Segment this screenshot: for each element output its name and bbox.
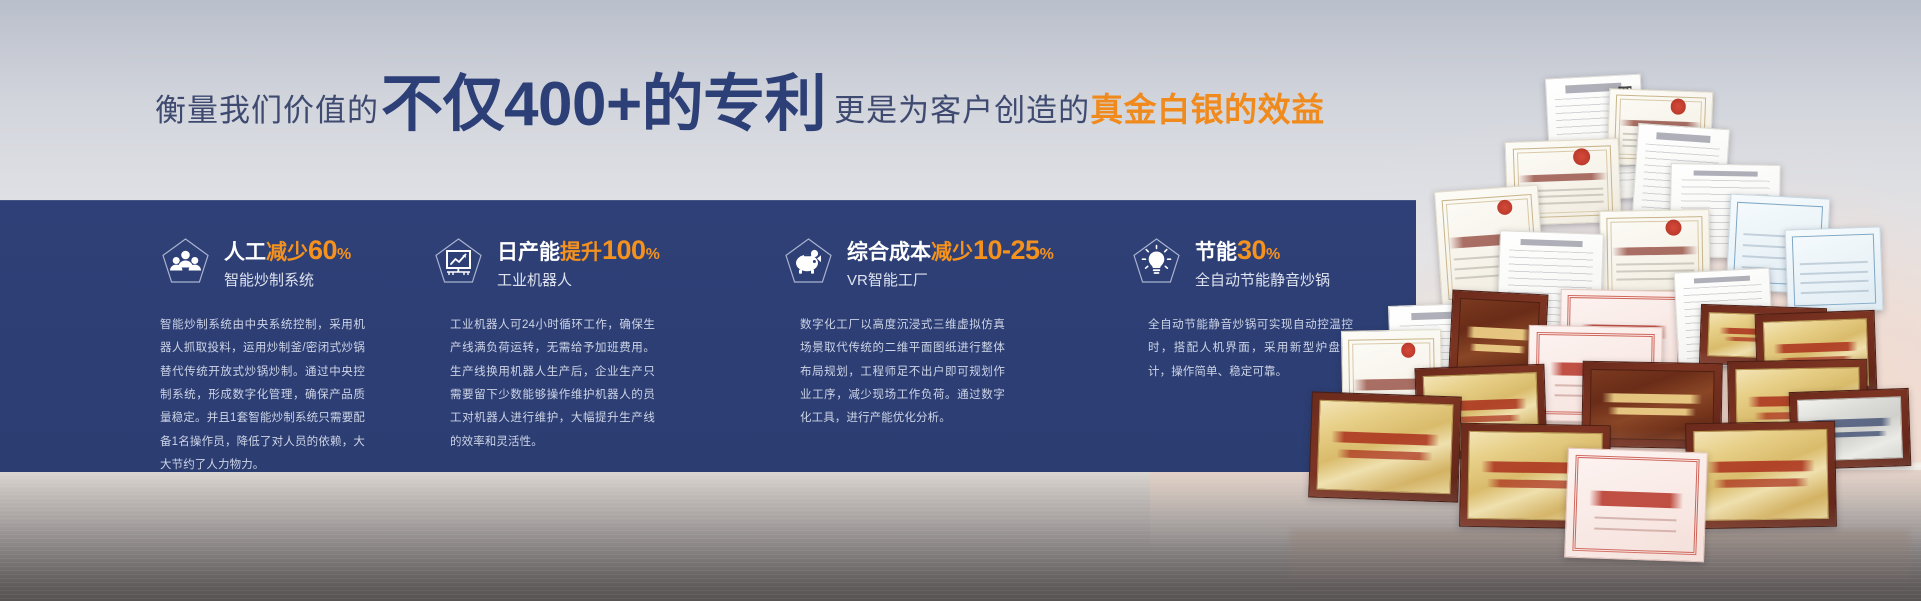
feature-header: 日产能提升100% 工业机器人 [433, 234, 737, 290]
feature-title-unit: % [646, 246, 660, 263]
feature-title-prefix: 综合成本 [847, 241, 931, 264]
light-bulb-icon [1131, 236, 1182, 287]
feature-title-unit: % [1040, 246, 1054, 263]
certificate-item [1685, 421, 1837, 530]
feature-body: 数字化工厂以高度沉浸式三维虚拟仿真场景取代传统的二维平面图纸进行整体布局规划，工… [800, 314, 1005, 431]
feature-body: 工业机器人可24小时循环工作，确保生产线满负荷运转，无需给予加班费用。生产线换用… [450, 314, 655, 454]
feature-title-highlight: 减少 [931, 241, 973, 264]
feature-item-total-cost[interactable]: 综合成本减少10-25% VR智能工厂 数字化工厂以高度沉浸式三维虚拟仿真场景取… [737, 200, 1087, 472]
feature-title: 综合成本减少10-25% [847, 235, 1054, 266]
feature-subtitle: VR智能工厂 [847, 272, 1054, 290]
certificate-item [1785, 226, 1884, 313]
feature-panel: 人工减少60% 智能炒制系统 智能炒制系统由中央系统控制，采用机器人抓取投料，运… [0, 200, 1416, 472]
feature-title-highlight: 提升 [560, 241, 602, 264]
feature-title-prefix: 日产能 [497, 241, 560, 264]
feature-body: 智能炒制系统由中央系统控制，采用机器人抓取投料，运用炒制釜/密闭式炒锅替代传统开… [160, 314, 365, 477]
feature-subtitle: 智能炒制系统 [224, 272, 351, 290]
certificate-item [1308, 391, 1462, 502]
certificate-item [1564, 448, 1708, 563]
feature-title-number: 10-25 [973, 235, 1040, 265]
headline: 衡量我们价值的 不仅400+的专利 更是为客户创造的 真金白银的效益 [155, 74, 1325, 144]
people-group-icon [160, 236, 211, 287]
feature-item-labor-reduction[interactable]: 人工减少60% 智能炒制系统 智能炒制系统由中央系统控制，采用机器人抓取投料，运… [0, 200, 385, 472]
piggy-bank-icon [783, 236, 834, 287]
feature-item-daily-capacity[interactable]: 日产能提升100% 工业机器人 工业机器人可24小时循环工作，确保生产线满负荷运… [385, 200, 737, 472]
feature-list: 人工减少60% 智能炒制系统 智能炒制系统由中央系统控制，采用机器人抓取投料，运… [0, 200, 1416, 472]
feature-title-number: 100 [602, 235, 646, 265]
headline-emphasis: 不仅400+的专利 [381, 74, 826, 136]
feature-title-unit: % [337, 246, 351, 263]
feature-title: 日产能提升100% [497, 235, 660, 266]
feature-header: 人工减少60% 智能炒制系统 [160, 234, 385, 290]
feature-title: 人工减少60% [224, 235, 351, 266]
feature-titles: 人工减少60% 智能炒制系统 [224, 234, 351, 290]
feature-titles: 日产能提升100% 工业机器人 [497, 234, 660, 290]
feature-subtitle: 工业机器人 [497, 272, 660, 290]
chart-board-icon [433, 236, 484, 287]
feature-title-highlight: 减少 [266, 241, 308, 264]
banner-stage: 衡量我们价值的 不仅400+的专利 更是为客户创造的 真金白银的效益 [0, 0, 1921, 601]
headline-prefix: 衡量我们价值的 [155, 95, 379, 126]
certificate-pile [1230, 30, 1921, 601]
feature-titles: 综合成本减少10-25% VR智能工厂 [847, 234, 1054, 290]
feature-title-number: 60 [308, 235, 337, 265]
feature-title-prefix: 人工 [224, 241, 266, 264]
headline-middle: 更是为客户创造的 [834, 95, 1090, 126]
feature-header: 综合成本减少10-25% VR智能工厂 [783, 234, 1087, 290]
